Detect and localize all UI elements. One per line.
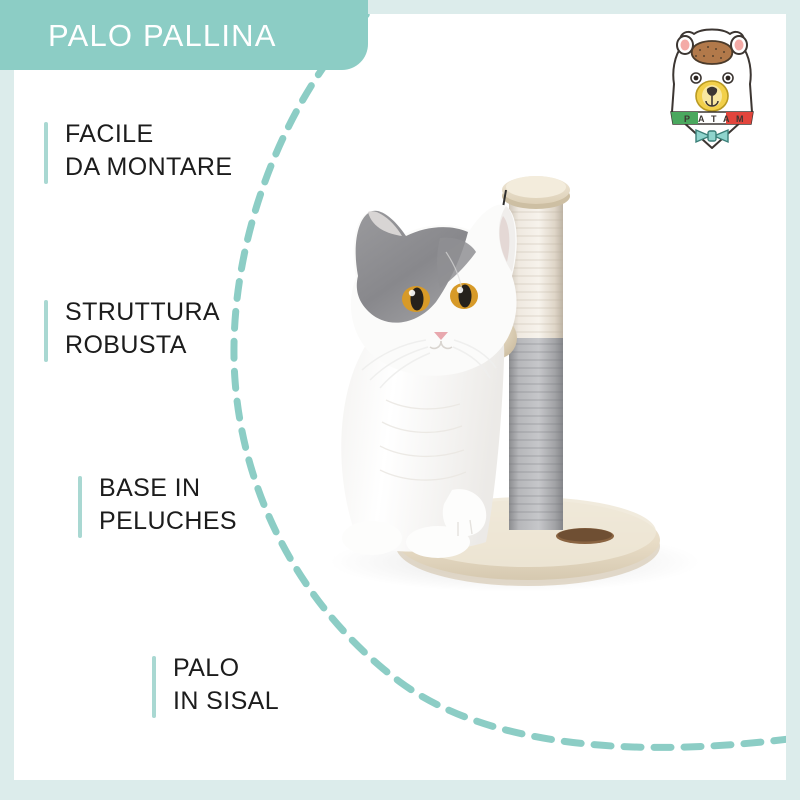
feature-label: PALO IN SISAL	[173, 652, 279, 717]
svg-text:P: P	[684, 114, 690, 124]
feature-accent-bar	[44, 300, 48, 362]
svg-text:T: T	[711, 114, 717, 124]
svg-text:A: A	[698, 114, 705, 124]
feature-base-in-peluches: BASE IN PELUCHES	[78, 472, 237, 538]
feature-label: BASE IN PELUCHES	[99, 472, 237, 537]
frame-border-right	[786, 0, 800, 800]
feature-facile-da-montare: FACILE DA MONTARE	[44, 118, 232, 184]
feature-label: STRUTTURA ROBUSTA	[65, 296, 220, 361]
frame-border-bottom	[0, 780, 800, 800]
feature-label: FACILE DA MONTARE	[65, 118, 232, 183]
feature-palo-in-sisal: PALO IN SISAL	[152, 652, 279, 718]
brand-logo-patam: P A T A M	[660, 26, 764, 152]
infographic-canvas: P A T A M PALO PALLINA FACILE DA MONTARE…	[0, 0, 800, 800]
feature-accent-bar	[44, 122, 48, 184]
feature-accent-bar	[78, 476, 82, 538]
feature-accent-bar	[152, 656, 156, 718]
svg-text:A: A	[723, 114, 730, 124]
frame-border-left	[0, 0, 14, 800]
svg-text:M: M	[736, 114, 744, 124]
feature-struttura-robusta: STRUTTURA ROBUSTA	[44, 296, 220, 362]
header-banner: PALO PALLINA	[0, 0, 368, 70]
page-title: PALO PALLINA	[48, 20, 277, 51]
product-photo	[300, 160, 720, 610]
